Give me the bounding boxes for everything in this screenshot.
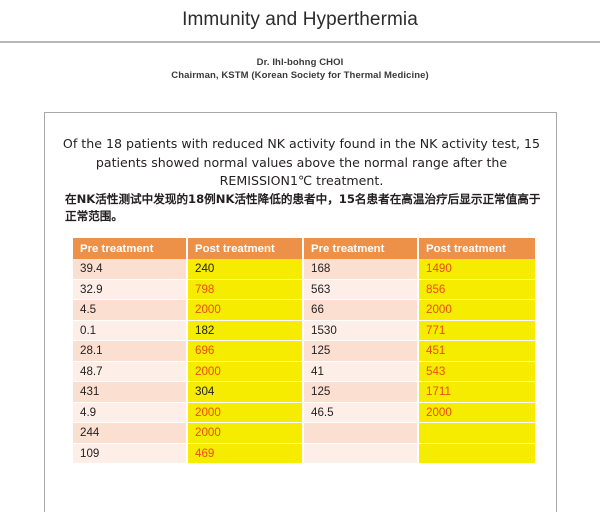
cell-pre-treatment-2: 563 [304, 280, 419, 301]
cell-pre-treatment-2: 1530 [304, 321, 419, 342]
cell-pre-treatment-1: 0.1 [73, 321, 188, 342]
cell-pre-treatment-1: 28.1 [73, 341, 188, 362]
table-row: 2442000 [73, 423, 535, 444]
content-frame: Of the 18 patients with reduced NK activ… [44, 112, 557, 512]
cell-pre-treatment-2: 168 [304, 259, 419, 280]
cell-pre-treatment-1: 244 [73, 423, 188, 444]
cell-pre-treatment-2 [304, 444, 419, 465]
cell-post-treatment-1: 2000 [188, 362, 304, 383]
cell-pre-treatment-1: 4.9 [73, 403, 188, 424]
cell-post-treatment-1: 2000 [188, 423, 304, 444]
author-block: Dr. Ihl-bohng CHOI Chairman, KSTM (Korea… [0, 56, 600, 83]
table-row: 39.42401681490 [73, 259, 535, 280]
cell-post-treatment-2: 2000 [419, 300, 535, 321]
author-name: Dr. Ihl-bohng CHOI [0, 56, 600, 69]
author-affiliation: Chairman, KSTM (Korean Society for Therm… [0, 69, 600, 83]
table-row: 109469 [73, 444, 535, 465]
cell-pre-treatment-1: 39.4 [73, 259, 188, 280]
cell-pre-treatment-1: 48.7 [73, 362, 188, 383]
cell-post-treatment-1: 2000 [188, 403, 304, 424]
cell-post-treatment-1: 304 [188, 382, 304, 403]
cell-pre-treatment-2: 125 [304, 341, 419, 362]
cell-post-treatment-2: 856 [419, 280, 535, 301]
cell-pre-treatment-2: 66 [304, 300, 419, 321]
table-row: 4.9200046.52000 [73, 403, 535, 424]
table-row: 0.11821530771 [73, 321, 535, 342]
column-header-post-treatment-1: Post treatment [188, 238, 304, 259]
column-header-pre-treatment-1: Pre treatment [73, 238, 188, 259]
cell-post-treatment-1: 696 [188, 341, 304, 362]
cell-post-treatment-2: 771 [419, 321, 535, 342]
column-header-post-treatment-2: Post treatment [419, 238, 535, 259]
table-row: 4313041251711 [73, 382, 535, 403]
table-row: 4.52000662000 [73, 300, 535, 321]
cell-post-treatment-2: 1490 [419, 259, 535, 280]
nk-activity-table: Pre treatment Post treatment Pre treatme… [73, 238, 535, 464]
cell-pre-treatment-1: 109 [73, 444, 188, 465]
cell-pre-treatment-2: 125 [304, 382, 419, 403]
cell-post-treatment-1: 182 [188, 321, 304, 342]
table-header-row: Pre treatment Post treatment Pre treatme… [73, 238, 535, 259]
cell-post-treatment-1: 2000 [188, 300, 304, 321]
cell-pre-treatment-2: 46.5 [304, 403, 419, 424]
cell-post-treatment-2: 451 [419, 341, 535, 362]
cell-pre-treatment-2 [304, 423, 419, 444]
table-row: 48.7200041543 [73, 362, 535, 383]
summary-paragraph-english: Of the 18 patients with reduced NK activ… [57, 135, 546, 191]
cell-pre-treatment-1: 32.9 [73, 280, 188, 301]
cell-post-treatment-2 [419, 423, 535, 444]
summary-paragraph-chinese: 在NK活性测试中发现的18例NK活性降低的患者中，15名患者在高温治疗后显示正常… [65, 191, 543, 225]
cell-post-treatment-2: 1711 [419, 382, 535, 403]
cell-pre-treatment-1: 431 [73, 382, 188, 403]
cell-post-treatment-2 [419, 444, 535, 465]
cell-post-treatment-2: 2000 [419, 403, 535, 424]
table-row: 32.9798563856 [73, 280, 535, 301]
column-header-pre-treatment-2: Pre treatment [304, 238, 419, 259]
table-row: 28.1696125451 [73, 341, 535, 362]
cell-pre-treatment-2: 41 [304, 362, 419, 383]
cell-post-treatment-1: 469 [188, 444, 304, 465]
cell-post-treatment-1: 240 [188, 259, 304, 280]
slide-header-bar: Immunity and Hyperthermia [0, 0, 600, 43]
cell-post-treatment-2: 543 [419, 362, 535, 383]
cell-pre-treatment-1: 4.5 [73, 300, 188, 321]
page-title: Immunity and Hyperthermia [0, 9, 600, 31]
cell-post-treatment-1: 798 [188, 280, 304, 301]
